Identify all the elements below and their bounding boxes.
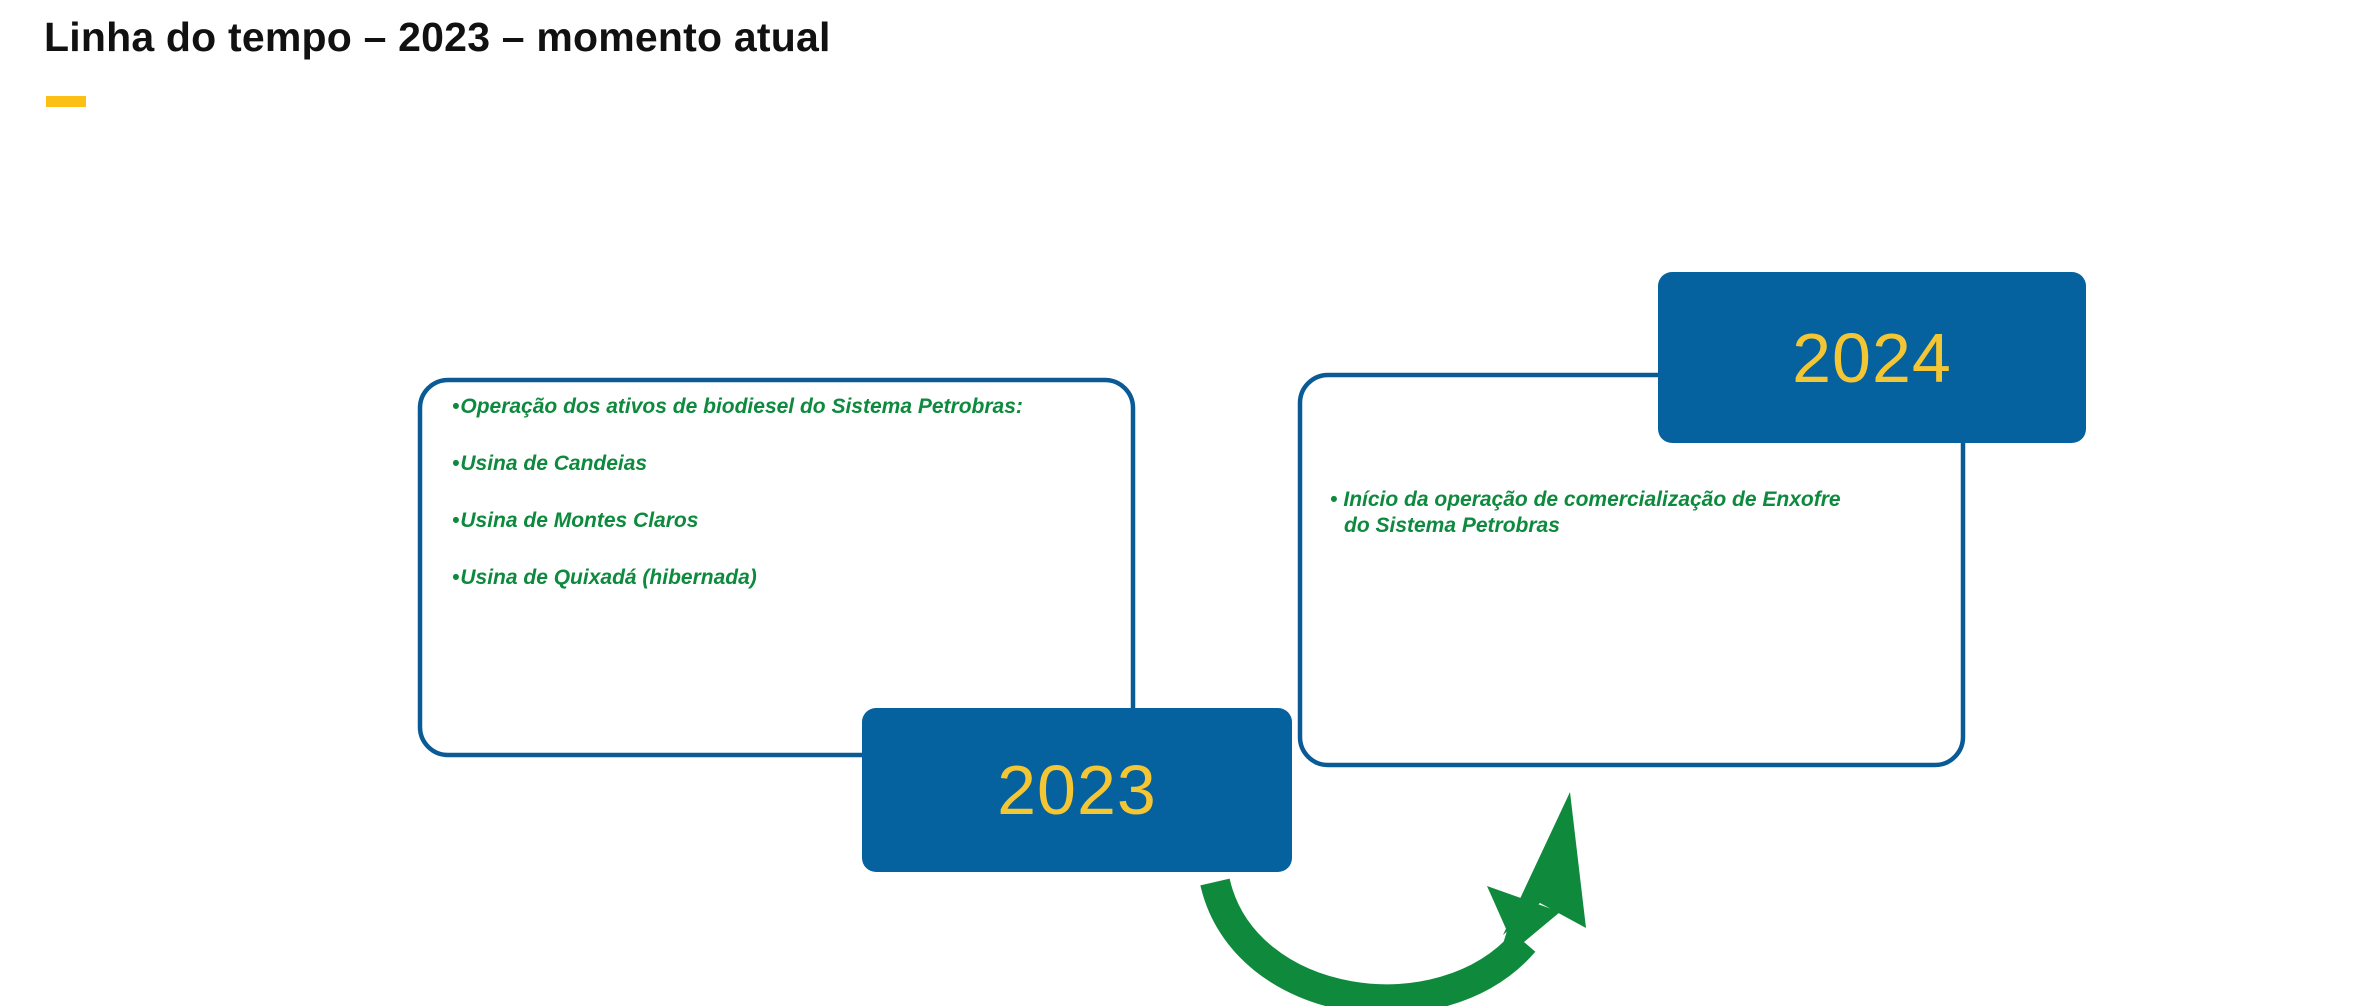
bullet-text: Usina de Montes Claros	[460, 509, 698, 532]
slide-canvas: Linha do tempo – 2023 – momento atual 20…	[0, 0, 2369, 1006]
bullet-text-line-2: do Sistema Petrobras	[1330, 513, 1930, 539]
list-item: •Operação dos ativos de biodiesel do Sis…	[452, 395, 1112, 419]
list-item: •Usina de Quixadá (hibernada)	[452, 566, 1112, 590]
year-badge-2024[interactable]: 2024	[1658, 272, 2086, 443]
bullet-glyph: •	[452, 395, 459, 418]
bullet-glyph: •	[452, 509, 459, 532]
bullet-text: Usina de Candeias	[460, 452, 647, 475]
list-item: •Início da operação de comercialização d…	[1330, 487, 1930, 540]
list-item: •Usina de Montes Claros	[452, 509, 1112, 533]
list-item: •Usina de Candeias	[452, 452, 1112, 476]
bullet-text: Usina de Quixadá (hibernada)	[460, 566, 756, 589]
bullet-text-line-1: Início da operação de comercialização de…	[1343, 488, 1840, 511]
year-badge-2023[interactable]: 2023	[862, 708, 1292, 872]
bullet-glyph: •	[452, 452, 459, 475]
bullet-text: Operação dos ativos de biodiesel do Sist…	[460, 395, 1023, 418]
milestone-content-2023: •Operação dos ativos de biodiesel do Sis…	[452, 395, 1112, 590]
milestone-content-2024: •Início da operação de comercialização d…	[1330, 487, 1930, 540]
bullet-glyph: •	[1330, 488, 1337, 511]
bullet-glyph: •	[452, 566, 459, 589]
